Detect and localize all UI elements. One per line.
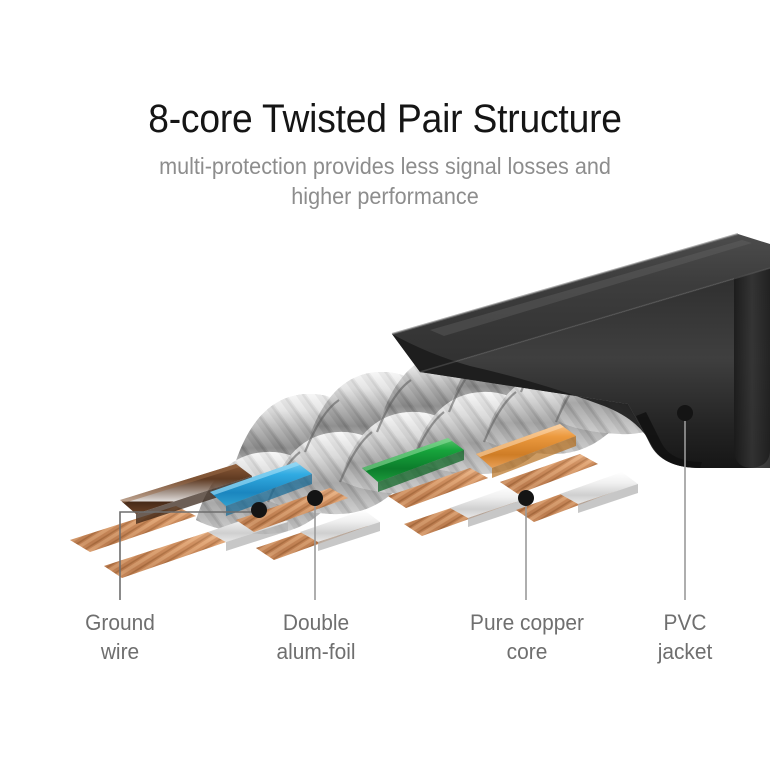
leader-dot-pure-copper-core xyxy=(518,490,534,506)
caption-pvc-jacket-line1: PVC xyxy=(625,608,745,637)
caption-double-alum-foil-line2: alum-foil xyxy=(236,637,396,666)
caption-ground-wire-line2: wire xyxy=(44,637,196,666)
caption-pure-copper-core: Pure copper core xyxy=(439,608,616,666)
caption-pure-copper-core-line2: core xyxy=(439,637,616,666)
leader-dot-double-alum-foil xyxy=(307,490,323,506)
leader-dot-ground-wire xyxy=(251,502,267,518)
caption-pvc-jacket: PVC jacket xyxy=(625,608,745,666)
caption-ground-wire-line1: Ground xyxy=(44,608,196,637)
caption-double-alum-foil: Double alum-foil xyxy=(236,608,396,666)
caption-pure-copper-core-line1: Pure copper xyxy=(439,608,616,637)
caption-pvc-jacket-line2: jacket xyxy=(625,637,745,666)
caption-double-alum-foil-line1: Double xyxy=(236,608,396,637)
caption-ground-wire: Ground wire xyxy=(44,608,196,666)
infographic-page: 8-core Twisted Pair Structure multi-prot… xyxy=(0,0,770,770)
leader-dot-pvc-jacket xyxy=(677,405,693,421)
